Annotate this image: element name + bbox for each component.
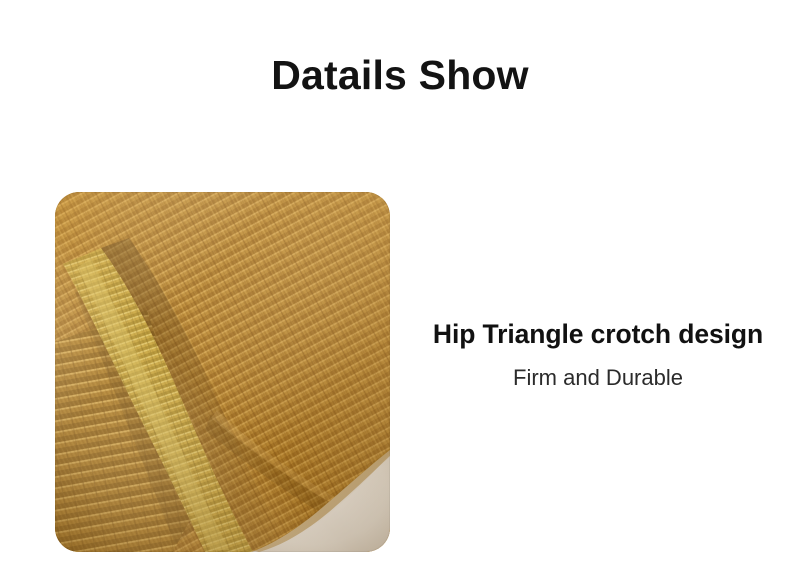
feature-subline: Firm and Durable [398,364,798,392]
feature-headline: Hip Triangle crotch design [398,318,798,351]
knit-fabric-illustration [55,192,390,552]
page-title: Datails Show [0,52,800,99]
detail-banner: Datails Show [0,0,800,579]
feature-copy-block: Hip Triangle crotch design Firm and Dura… [398,318,798,392]
product-detail-photo [55,192,390,552]
